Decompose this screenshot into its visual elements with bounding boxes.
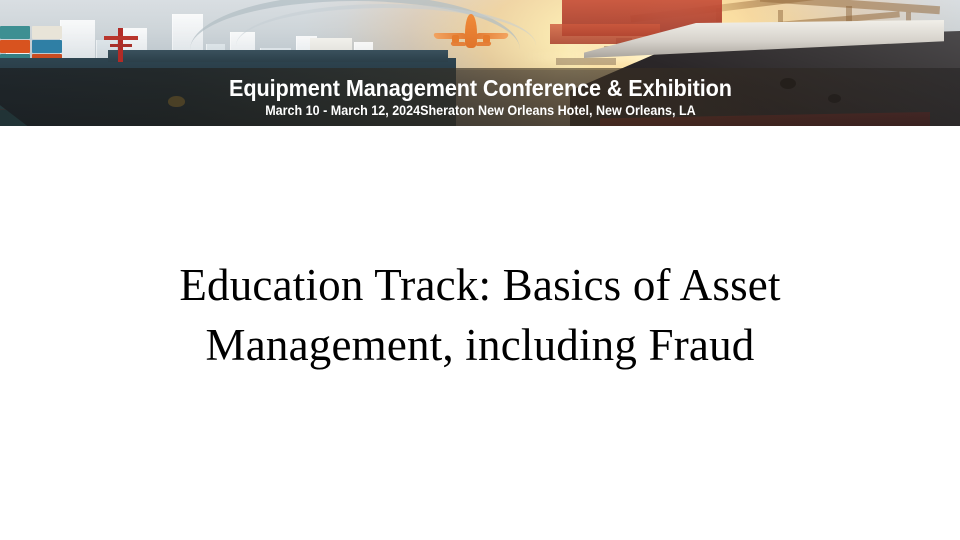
- conference-details: March 10 - March 12, 2024Sheraton New Or…: [265, 103, 696, 119]
- page-title: Education Track: Basics of Asset Managem…: [60, 255, 900, 375]
- conference-name: Equipment Management Conference & Exhibi…: [229, 75, 732, 102]
- header-text-block: Equipment Management Conference & Exhibi…: [0, 68, 960, 126]
- ship-mast-arm-graphic: [104, 36, 138, 40]
- ship-mast-arm-graphic: [110, 44, 132, 47]
- presentation-slide: Equipment Management Conference & Exhibi…: [0, 0, 960, 540]
- header-banner: Equipment Management Conference & Exhibi…: [0, 0, 960, 126]
- container-vessel-deck: [108, 50, 448, 62]
- airplane-graphic: [432, 14, 510, 52]
